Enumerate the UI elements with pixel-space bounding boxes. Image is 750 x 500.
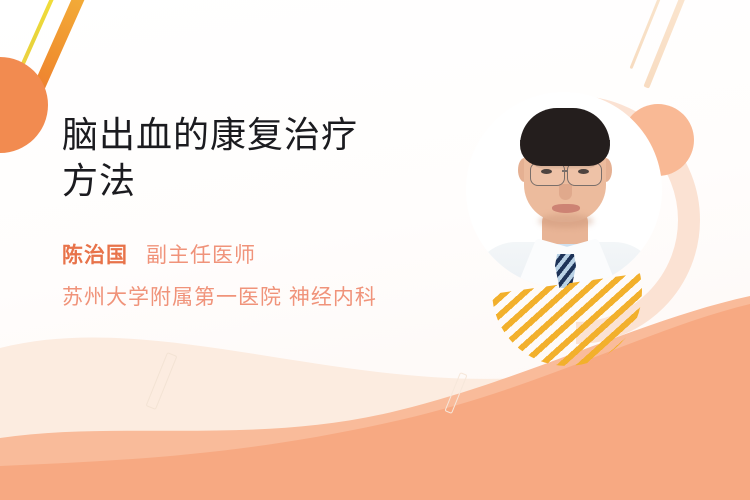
poster-canvas: 脑出血的康复治疗 方法 陈治国 副主任医师 苏州大学附属第一医院 神经内科 — [0, 0, 750, 500]
doctor-portrait — [466, 92, 662, 288]
doctor-affiliation: 苏州大学附属第一医院 神经内科 — [62, 281, 462, 311]
mouth — [552, 204, 580, 213]
text-block: 脑出血的康复治疗 方法 陈治国 副主任医师 苏州大学附属第一医院 神经内科 — [62, 112, 462, 311]
doctor-name-row: 陈治国 副主任医师 — [62, 240, 462, 273]
poster-title: 脑出血的康复治疗 方法 — [62, 112, 462, 204]
eyeglass-bridge — [562, 170, 568, 172]
nose — [559, 184, 572, 200]
chin-shadow — [538, 214, 594, 228]
doctor-professional-title: 副主任医师 — [146, 240, 256, 273]
doctor-meta: 陈治国 副主任医师 苏州大学附属第一医院 神经内科 — [62, 240, 462, 311]
doctor-name: 陈治国 — [62, 240, 128, 273]
